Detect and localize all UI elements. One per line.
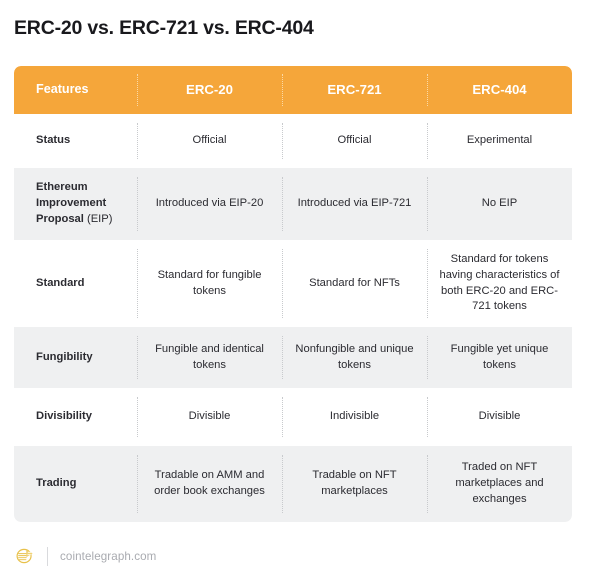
table-row: Standard Standard for fungible tokens St…	[14, 240, 572, 327]
column-header-erc721: ERC-721	[282, 66, 427, 114]
page-title: ERC-20 vs. ERC-721 vs. ERC-404	[14, 17, 314, 40]
table-header-row: Features ERC-20 ERC-721 ERC-404	[14, 66, 572, 114]
footer-divider	[47, 547, 48, 566]
cell-standard-erc404: Standard for tokens having characteristi…	[427, 240, 572, 327]
table-row: Trading Tradable on AMM and order book e…	[14, 446, 572, 522]
footer: cointelegraph.com	[14, 544, 156, 568]
row-label-text: Divisibility	[36, 409, 92, 425]
cell-trading-erc721: Tradable on NFT marketplaces	[282, 446, 427, 522]
row-label-text: Trading	[36, 476, 76, 492]
row-label-fungibility: Fungibility	[14, 327, 137, 388]
cell-divisibility-erc20: Divisible	[137, 388, 282, 446]
row-label-divisibility: Divisibility	[14, 388, 137, 446]
cell-standard-erc20: Standard for fungible tokens	[137, 240, 282, 327]
cell-divisibility-erc721: Indivisible	[282, 388, 427, 446]
cell-trading-erc20: Tradable on AMM and order book exchanges	[137, 446, 282, 522]
row-label-status: Status	[14, 114, 137, 168]
cell-standard-erc721: Standard for NFTs	[282, 240, 427, 327]
row-label-trading: Trading	[14, 446, 137, 522]
cell-fungibility-erc20: Fungible and identical tokens	[137, 327, 282, 388]
row-label-suffix: (EIP)	[87, 213, 112, 225]
row-label-text: Standard	[36, 276, 85, 292]
cell-divisibility-erc404: Divisible	[427, 388, 572, 446]
row-label-eip: Ethereum Improvement Proposal (EIP)	[14, 168, 137, 240]
cell-eip-erc404: No EIP	[427, 168, 572, 240]
table-row: Fungibility Fungible and identical token…	[14, 327, 572, 388]
cointelegraph-logo-icon	[14, 545, 36, 567]
comparison-table: Features ERC-20 ERC-721 ERC-404 Status O…	[14, 66, 572, 522]
footer-site-label: cointelegraph.com	[60, 550, 156, 563]
cell-fungibility-erc721: Nonfungible and unique tokens	[282, 327, 427, 388]
row-label-text: Ethereum Improvement Proposal (EIP)	[36, 180, 130, 228]
column-header-erc20: ERC-20	[137, 66, 282, 114]
column-header-erc404: ERC-404	[427, 66, 572, 114]
column-header-features: Features	[14, 66, 137, 114]
table-row: Status Official Official Experimental	[14, 114, 572, 168]
row-label-text: Status	[36, 133, 70, 149]
cell-eip-erc721: Introduced via EIP-721	[282, 168, 427, 240]
table-row: Divisibility Divisible Indivisible Divis…	[14, 388, 572, 446]
infographic-page: ERC-20 vs. ERC-721 vs. ERC-404 Features …	[0, 0, 600, 583]
cell-status-erc404: Experimental	[427, 114, 572, 168]
cell-fungibility-erc404: Fungible yet unique tokens	[427, 327, 572, 388]
row-label-text: Fungibility	[36, 350, 93, 366]
table-row: Ethereum Improvement Proposal (EIP) Intr…	[14, 168, 572, 240]
cell-eip-erc20: Introduced via EIP-20	[137, 168, 282, 240]
cell-trading-erc404: Traded on NFT marketplaces and exchanges	[427, 446, 572, 522]
cell-status-erc721: Official	[282, 114, 427, 168]
row-label-standard: Standard	[14, 240, 137, 327]
cell-status-erc20: Official	[137, 114, 282, 168]
